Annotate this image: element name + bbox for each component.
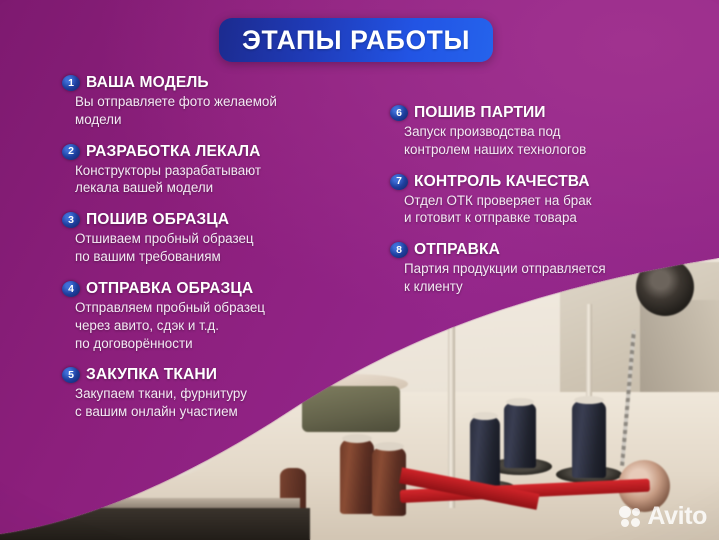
- step-title: ЗАКУПКА ТКАНИ: [86, 366, 217, 384]
- step-header: 2 РАЗРАБОТКА ЛЕКАЛА: [62, 143, 330, 161]
- step-item-7: 7 КОНТРОЛЬ КАЧЕСТВА Отдел ОТК проверяет …: [390, 173, 680, 228]
- step-title: ВАША МОДЕЛЬ: [86, 74, 209, 92]
- step-number-badge: 8: [390, 242, 408, 258]
- promo-image: ЭТАПЫ РАБОТЫ 1 ВАША МОДЕЛЬ Вы отправляет…: [0, 0, 719, 540]
- step-item-4: 4 ОТПРАВКА ОБРАЗЦА Отправляем пробный об…: [62, 280, 330, 352]
- step-number-badge: 3: [62, 212, 80, 228]
- step-header: 3 ПОШИВ ОБРАЗЦА: [62, 211, 330, 229]
- page-title-banner: ЭТАПЫ РАБОТЫ: [219, 18, 493, 62]
- step-number-badge: 4: [62, 281, 80, 297]
- step-number-badge: 5: [62, 367, 80, 383]
- steps-column-left: 1 ВАША МОДЕЛЬ Вы отправляете фото желаем…: [62, 74, 330, 435]
- step-title: ОТПРАВКА ОБРАЗЦА: [86, 280, 253, 298]
- avito-logo-icon: [619, 506, 642, 527]
- step-description: Отдел ОТК проверяет на брак и готовит к …: [404, 192, 680, 228]
- step-item-6: 6 ПОШИВ ПАРТИИ Запуск производства под к…: [390, 104, 680, 159]
- step-number-badge: 1: [62, 75, 80, 91]
- step-description: Партия продукции отправляется к клиенту: [404, 260, 680, 296]
- step-header: 8 ОТПРАВКА: [390, 241, 680, 259]
- step-item-8: 8 ОТПРАВКА Партия продукции отправляется…: [390, 241, 680, 296]
- step-title: ОТПРАВКА: [414, 241, 500, 259]
- step-item-2: 2 РАЗРАБОТКА ЛЕКАЛА Конструкторы разраба…: [62, 143, 330, 198]
- step-title: ПОШИВ ПАРТИИ: [414, 104, 546, 122]
- avito-wordmark: Avito: [647, 504, 707, 529]
- step-header: 1 ВАША МОДЕЛЬ: [62, 74, 330, 92]
- page-title: ЭТАПЫ РАБОТЫ: [242, 25, 470, 56]
- step-description: Закупаем ткани, фурнитуру с вашим онлайн…: [75, 385, 330, 421]
- step-header: 6 ПОШИВ ПАРТИИ: [390, 104, 680, 122]
- step-header: 7 КОНТРОЛЬ КАЧЕСТВА: [390, 173, 680, 191]
- step-number-badge: 6: [390, 105, 408, 121]
- step-title: РАЗРАБОТКА ЛЕКАЛА: [86, 143, 261, 161]
- step-title: ПОШИВ ОБРАЗЦА: [86, 211, 229, 229]
- step-number-badge: 7: [390, 174, 408, 190]
- step-number-badge: 2: [62, 144, 80, 160]
- step-header: 4 ОТПРАВКА ОБРАЗЦА: [62, 280, 330, 298]
- step-description: Отправляем пробный образец через авито, …: [75, 299, 330, 352]
- step-item-5: 5 ЗАКУПКА ТКАНИ Закупаем ткани, фурнитур…: [62, 366, 330, 421]
- step-description: Отшиваем пробный образец по вашим требов…: [75, 230, 330, 266]
- step-description: Запуск производства под контролем наших …: [404, 123, 680, 159]
- step-title: КОНТРОЛЬ КАЧЕСТВА: [414, 173, 590, 191]
- steps-column-right: 6 ПОШИВ ПАРТИИ Запуск производства под к…: [390, 104, 680, 310]
- step-item-3: 3 ПОШИВ ОБРАЗЦА Отшиваем пробный образец…: [62, 211, 330, 266]
- step-description: Вы отправляете фото желаемой модели: [75, 93, 330, 129]
- step-header: 5 ЗАКУПКА ТКАНИ: [62, 366, 330, 384]
- step-description: Конструкторы разрабатывают лекала вашей …: [75, 162, 330, 198]
- step-item-1: 1 ВАША МОДЕЛЬ Вы отправляете фото желаем…: [62, 74, 330, 129]
- avito-watermark: Avito: [619, 504, 707, 529]
